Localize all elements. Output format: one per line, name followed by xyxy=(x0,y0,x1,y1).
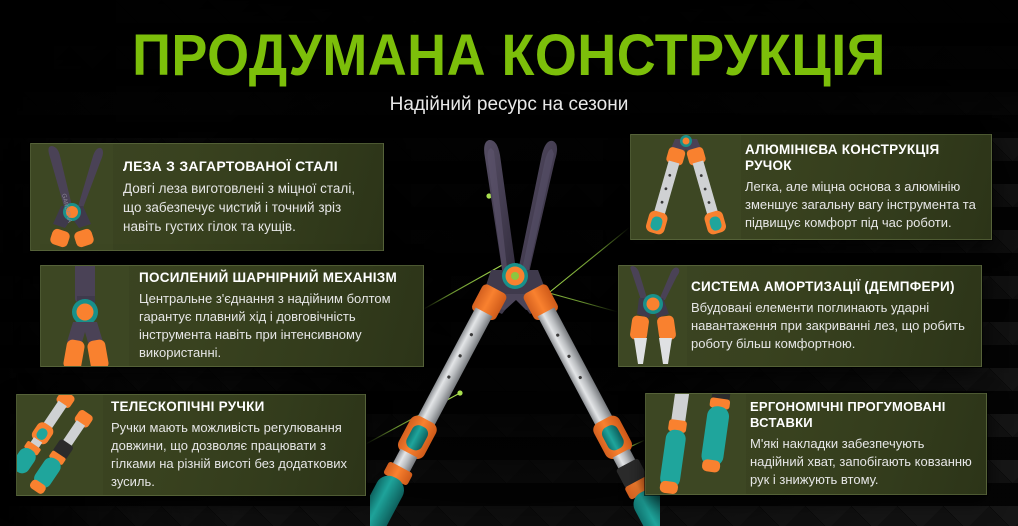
card-text: Вбудовані елементи поглинають ударні нав… xyxy=(691,299,969,353)
card-title: ПОСИЛЕНИЙ ШАРНІРНИЙ МЕХАНІЗМ xyxy=(139,270,413,286)
aluminium-handles-photo xyxy=(631,135,741,239)
card-title: ЛЕЗА З ЗАГАРТОВАНОЇ СТАЛІ xyxy=(123,158,371,175)
card-title: ТЕЛЕСКОПІЧНІ РУЧКИ xyxy=(111,399,355,415)
page-title: ПРОДУМАНА КОНСТРУКЦІЯ xyxy=(36,0,983,86)
card-body: ПОСИЛЕНИЙ ШАРНІРНИЙ МЕХАНІЗМ Центральне … xyxy=(129,266,423,366)
feature-card-telescopic[interactable]: ТЕЛЕСКОПІЧНІ РУЧКИ Ручки мають можливіст… xyxy=(16,394,366,496)
feature-card-damper[interactable]: СИСТЕМА АМОРТИЗАЦІЇ (ДЕМПФЕРИ) Вбудовані… xyxy=(618,265,982,367)
card-body: ЕРГОНОМІЧНІ ПРОГУМОВАНІ ВСТАВКИ М'які на… xyxy=(746,394,986,494)
feature-card-aluminium[interactable]: АЛЮМІНІЄВА КОНСТРУКЦІЯ РУЧОК Легка, але … xyxy=(630,134,992,240)
card-text: Ручки мають можливість регулювання довжи… xyxy=(111,419,355,491)
header: ПРОДУМАНА КОНСТРУКЦІЯ Надійний ресурс на… xyxy=(0,0,1018,116)
rubber-grips-photo xyxy=(646,394,746,494)
card-text: Легка, але міцна основа з алюмінію зменш… xyxy=(745,178,979,232)
feature-card-grips[interactable]: ЕРГОНОМІЧНІ ПРОГУМОВАНІ ВСТАВКИ М'які на… xyxy=(645,393,987,495)
card-title: СИСТЕМА АМОРТИЗАЦІЇ (ДЕМПФЕРИ) xyxy=(691,279,969,295)
card-title: ЕРГОНОМІЧНІ ПРОГУМОВАНІ ВСТАВКИ xyxy=(750,399,974,431)
shears-blades-photo: GARDENA xyxy=(31,144,113,250)
card-body: ЛЕЗА З ЗАГАРТОВАНОЇ СТАЛІ Довгі леза виг… xyxy=(113,144,383,250)
card-body: АЛЮМІНІЄВА КОНСТРУКЦІЯ РУЧОК Легка, але … xyxy=(741,135,991,239)
card-body: ТЕЛЕСКОПІЧНІ РУЧКИ Ручки мають можливіст… xyxy=(103,395,365,495)
card-text: М'які накладки забезпечують надійний хва… xyxy=(750,435,974,489)
infographic-canvas: ПРОДУМАНА КОНСТРУКЦІЯ Надійний ресурс на… xyxy=(0,0,1018,526)
feature-card-hinge[interactable]: ПОСИЛЕНИЙ ШАРНІРНИЙ МЕХАНІЗМ Центральне … xyxy=(40,265,424,367)
card-body: СИСТЕМА АМОРТИЗАЦІЇ (ДЕМПФЕРИ) Вбудовані… xyxy=(687,266,981,366)
card-text: Центральне з'єднання з надійним болтом г… xyxy=(139,290,413,362)
card-title: АЛЮМІНІЄВА КОНСТРУКЦІЯ РУЧОК xyxy=(745,142,979,174)
shears-hinge-photo xyxy=(41,266,129,366)
damper-system-photo xyxy=(619,266,687,366)
feature-card-blades[interactable]: GARDENA ЛЕЗА З ЗАГАРТОВАНОЇ СТАЛІ Довгі … xyxy=(30,143,384,251)
card-text: Довгі леза виготовлені з міцної сталі, щ… xyxy=(123,179,371,236)
telescopic-handles-photo xyxy=(17,395,103,495)
page-subtitle: Надійний ресурс на сезони xyxy=(0,86,1018,116)
